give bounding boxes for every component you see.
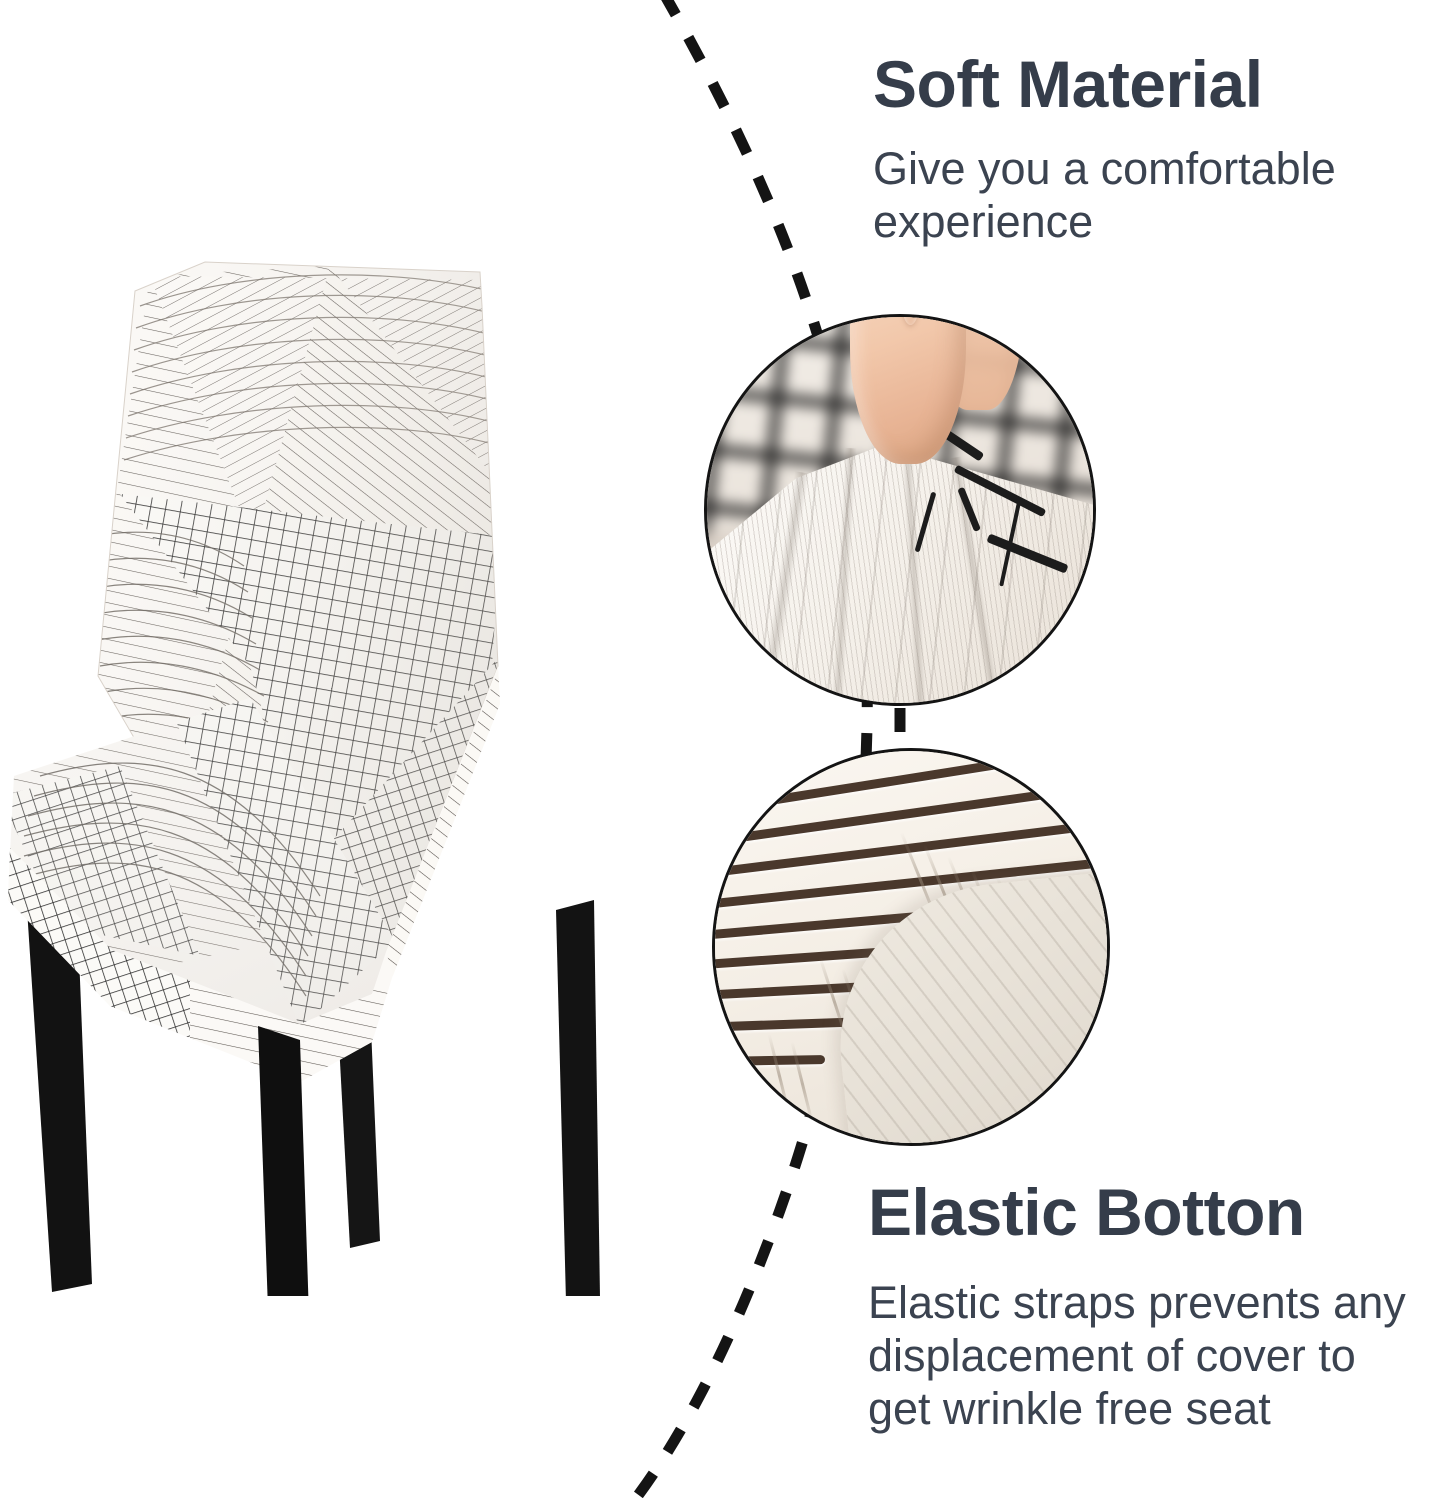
product-chair-image — [0, 236, 660, 1296]
soft-material-text-block: Soft Material Give you a comfortable exp… — [873, 50, 1393, 248]
elastic-botton-title: Elastic Botton — [868, 1178, 1428, 1248]
elastic-botton-text-block: Elastic Botton Elastic straps prevents a… — [868, 1178, 1428, 1435]
dashed-divider-arc — [630, 0, 867, 1498]
soft-material-description: Give you a comfortable experience — [873, 142, 1393, 248]
fingernail — [901, 314, 921, 325]
elastic-botton-description: Elastic straps prevents any displacement… — [868, 1276, 1428, 1435]
infographic-canvas: Soft Material Give you a comfortable exp… — [0, 0, 1445, 1498]
elastic-botton-callout-circle — [712, 748, 1110, 1146]
soft-material-callout-circle — [704, 314, 1096, 706]
soft-material-title: Soft Material — [873, 50, 1393, 120]
chair-leg-front-right — [556, 900, 600, 1296]
